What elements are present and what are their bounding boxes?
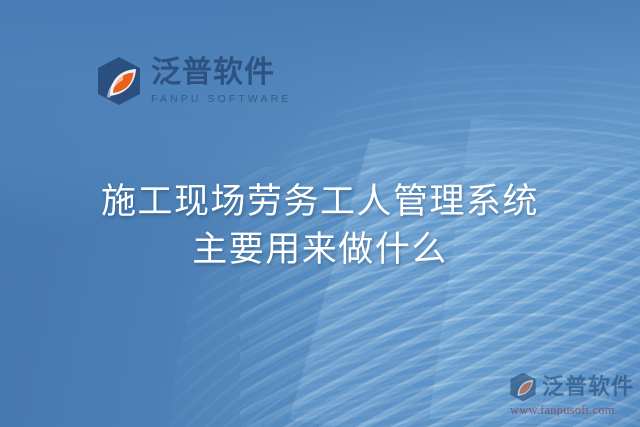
watermark-url: www.fanpusoft.com — [510, 403, 615, 418]
watermark: 泛普软件 www.fanpusoft.com — [509, 372, 634, 418]
brand-logo: 泛普软件 FANPU SOFTWARE — [96, 56, 291, 106]
brand-name-english: FANPU SOFTWARE — [151, 92, 291, 106]
watermark-brand-name: 泛普软件 — [542, 375, 634, 399]
fanpu-hexagon-sail-logo-icon — [96, 56, 142, 106]
fanpu-hexagon-sail-watermark-icon — [509, 372, 537, 402]
watermark-logo-row: 泛普软件 — [509, 372, 634, 402]
brand-logo-text: 泛普软件 FANPU SOFTWARE — [151, 57, 291, 106]
brand-name-chinese: 泛普软件 — [151, 57, 291, 89]
promo-banner: 泛普软件 FANPU SOFTWARE 施工现场劳务工人管理系统 主要用来做什么… — [0, 0, 640, 427]
